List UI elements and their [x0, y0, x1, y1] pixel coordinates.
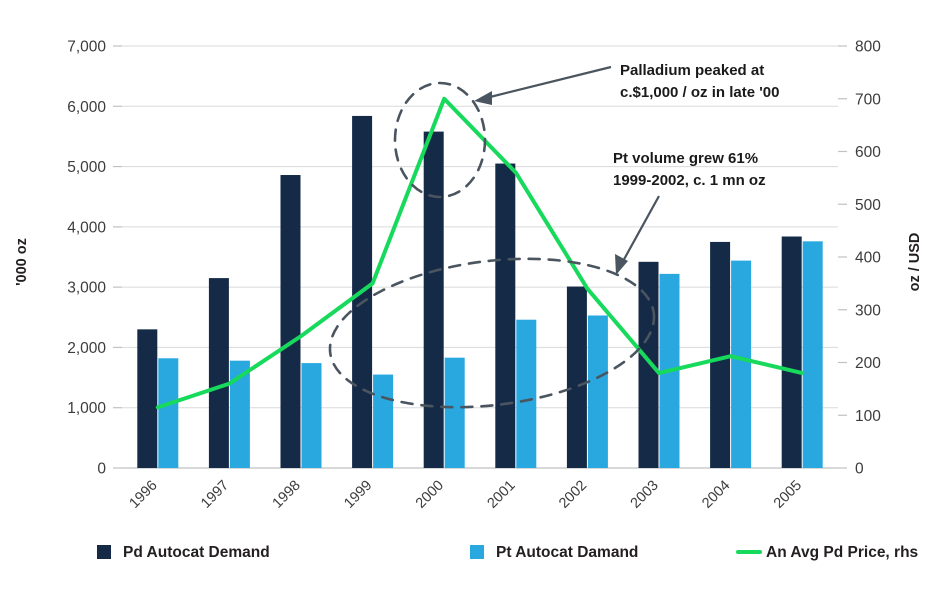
left-tick-label: 4,000 — [67, 219, 106, 236]
false — [588, 315, 608, 468]
left-tick-label: 2,000 — [67, 340, 106, 357]
chart-svg: 01,0002,0003,0004,0005,0006,0007,000 010… — [0, 0, 940, 600]
x-axis-label-1997: 1997 — [198, 478, 232, 512]
false — [137, 329, 157, 468]
line-series-pd-price — [158, 99, 802, 408]
x-axis-label-1999: 1999 — [341, 478, 375, 512]
false — [209, 278, 229, 468]
right-tick-label: 0 — [855, 461, 864, 478]
annotation-pt-volume-text: Pt volume grew 61% 1999-2002, c. 1 mn oz — [613, 150, 766, 189]
left-tick-label: 0 — [97, 461, 106, 478]
left-tick-label: 6,000 — [67, 99, 106, 116]
false — [373, 375, 393, 468]
right-tick-label: 600 — [855, 144, 881, 161]
x-axis-label-2000: 2000 — [413, 478, 447, 512]
gridlines — [122, 46, 838, 468]
legend-label-1: Pt Autocat Damand — [496, 544, 638, 561]
x-axis-label-2003: 2003 — [628, 478, 662, 512]
annotation-pt-volume-line1: Pt volume grew 61% — [613, 150, 758, 167]
annotation-pt-volume-line2: 1999-2002, c. 1 mn oz — [613, 172, 766, 189]
right-tick-label: 300 — [855, 302, 881, 319]
right-tick-label: 700 — [855, 91, 881, 108]
false — [281, 175, 301, 468]
annotation-palladium-peak-text: Palladium peaked at c.$1,000 / oz in lat… — [620, 62, 780, 101]
ellipse-highlight-pt-volume — [321, 242, 662, 425]
left-tick-label: 5,000 — [67, 159, 106, 176]
right-axis-ticks: 0100200300400500600700800 — [838, 39, 881, 478]
x-axis-year-labels: 1996199719981999200020012002200320042005 — [126, 478, 805, 512]
left-axis-title: '000 oz — [14, 238, 30, 286]
false — [445, 358, 465, 468]
chart-legend: Pd Autocat DemandPt Autocat DamandAn Avg… — [97, 544, 918, 561]
false — [516, 320, 536, 468]
right-axis-title: oz / USD — [907, 233, 923, 292]
false — [158, 358, 178, 468]
false — [782, 237, 802, 468]
false — [97, 545, 111, 559]
right-tick-label: 400 — [855, 250, 881, 267]
left-tick-label: 3,000 — [67, 280, 106, 297]
x-axis-label-1998: 1998 — [270, 478, 304, 512]
annotation-palladium-peak-line2: c.$1,000 / oz in late '00 — [620, 84, 780, 101]
x-axis-label-2002: 2002 — [556, 478, 590, 512]
false — [731, 261, 751, 468]
false — [567, 287, 587, 468]
false — [302, 363, 322, 468]
left-tick-label: 7,000 — [67, 39, 106, 56]
left-tick-label: 1,000 — [67, 400, 106, 417]
right-tick-label: 200 — [855, 355, 881, 372]
x-axis-label-1996: 1996 — [126, 478, 160, 512]
right-tick-label: 100 — [855, 408, 881, 425]
false — [639, 262, 659, 468]
x-axis-label-2001: 2001 — [484, 478, 518, 512]
chart-container: 01,0002,0003,0004,0005,0006,0007,000 010… — [0, 0, 940, 600]
left-axis-ticks: 01,0002,0003,0004,0005,0006,0007,000 — [67, 39, 122, 478]
false — [470, 545, 484, 559]
arrow-to-palladium-peak — [474, 67, 611, 105]
false — [803, 241, 823, 468]
false — [495, 164, 515, 468]
legend-label-0: Pd Autocat Demand — [123, 544, 270, 561]
price-line-path — [158, 99, 802, 408]
false — [424, 132, 444, 468]
annotation-palladium-peak-line1: Palladium peaked at — [620, 62, 764, 79]
right-tick-label: 800 — [855, 39, 881, 56]
right-tick-label: 500 — [855, 197, 881, 214]
x-axis-label-2004: 2004 — [699, 478, 733, 512]
x-axis-label-2005: 2005 — [771, 478, 805, 512]
legend-label-2: An Avg Pd Price, rhs — [766, 544, 918, 561]
annotation-shapes — [321, 67, 662, 424]
